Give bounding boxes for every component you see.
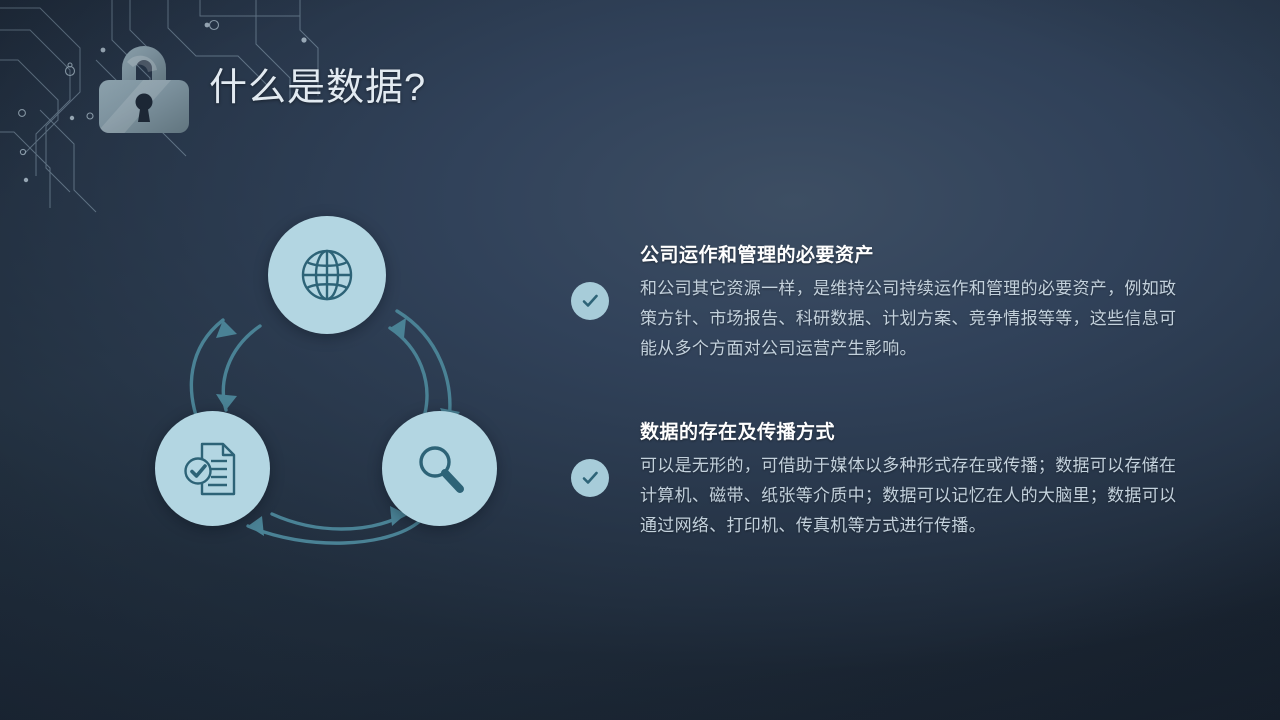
data-cycle-diagram: [120, 196, 550, 586]
globe-icon: [296, 244, 358, 306]
bullet-heading: 数据的存在及传播方式: [640, 417, 1185, 444]
bullet-item: 数据的存在及传播方式 可以是无形的，可借助于媒体以多种形式存在或传播；数据可以存…: [565, 417, 1185, 541]
cycle-node-globe[interactable]: [268, 216, 386, 334]
bullet-body: 可以是无形的，可借助于媒体以多种形式存在或传播；数据可以存储在计算机、磁带、纸张…: [640, 451, 1185, 541]
magnifier-icon: [410, 439, 470, 499]
cycle-node-magnifier[interactable]: [382, 411, 497, 526]
document-check-icon: [181, 439, 245, 499]
cycle-node-document-check[interactable]: [155, 411, 270, 526]
lock-icon: [95, 36, 193, 136]
bullet-list: 公司运作和管理的必要资产 和公司其它资源一样，是维持公司持续运作和管理的必要资产…: [565, 240, 1185, 541]
page-title: 什么是数据?: [209, 56, 426, 111]
slide-canvas: 什么是数据?: [0, 0, 1280, 720]
check-circle-icon: [571, 459, 609, 497]
bullet-heading: 公司运作和管理的必要资产: [640, 240, 1185, 267]
bullet-body: 和公司其它资源一样，是维持公司持续运作和管理的必要资产，例如政策方针、市场报告、…: [640, 274, 1185, 364]
bullet-item: 公司运作和管理的必要资产 和公司其它资源一样，是维持公司持续运作和管理的必要资产…: [565, 240, 1185, 364]
check-circle-icon: [571, 282, 609, 320]
